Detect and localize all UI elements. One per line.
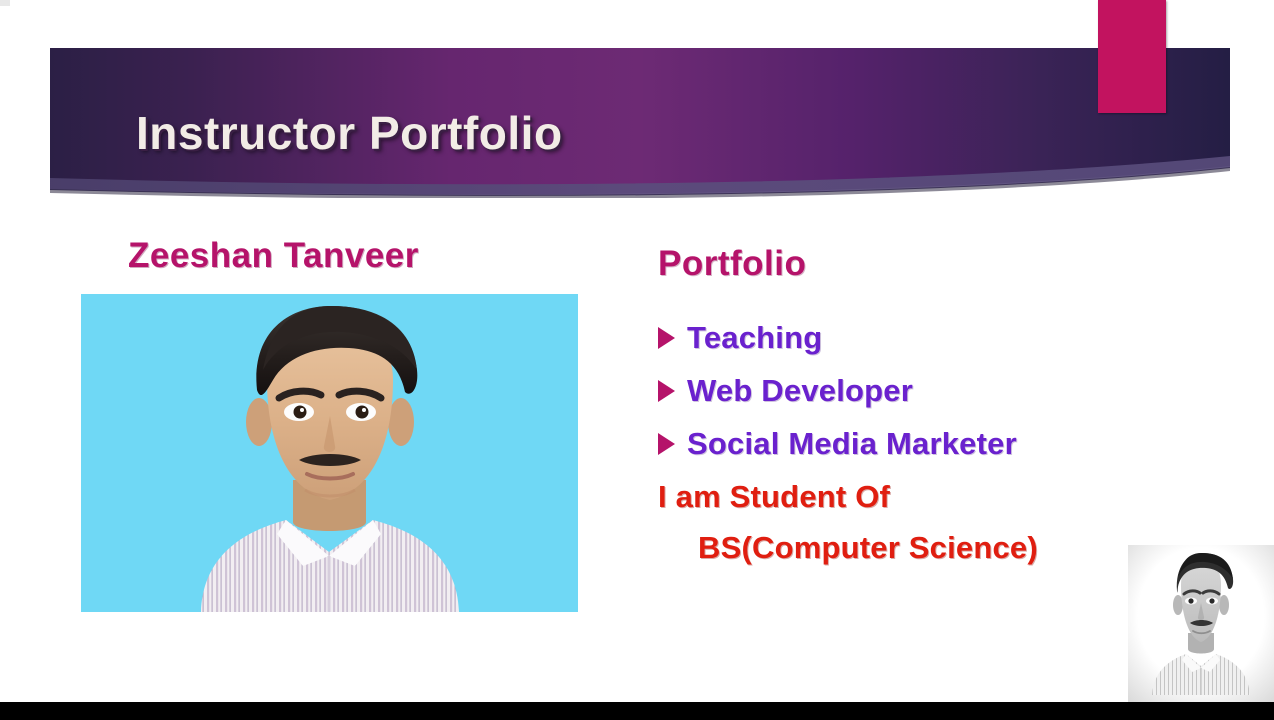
list-item-label: Teaching xyxy=(687,320,822,356)
instructor-block: Zeeshan Tanveer xyxy=(81,236,581,286)
webcam-portrait-illustration xyxy=(1128,545,1274,702)
header-banner: Instructor Portfolio xyxy=(50,48,1230,198)
list-item: Web Developer xyxy=(658,373,1218,409)
instructor-portrait-photo xyxy=(81,294,578,612)
portfolio-heading: Portfolio xyxy=(658,244,1218,284)
bottom-letterbox-bar xyxy=(0,702,1274,720)
portfolio-block: Portfolio Teaching Web Developer Social … xyxy=(658,244,1218,566)
list-item: Teaching xyxy=(658,320,1218,356)
student-statement-line-1: I am Student Of xyxy=(658,479,1218,515)
portfolio-skill-list: Teaching Web Developer Social Media Mark… xyxy=(658,320,1218,462)
slide-canvas: Instructor Portfolio Zeeshan Tanveer xyxy=(0,0,1274,720)
accent-bar xyxy=(1098,0,1166,113)
list-item-label: Social Media Marketer xyxy=(687,426,1017,462)
instructor-name: Zeeshan Tanveer xyxy=(128,236,581,276)
triangle-bullet-icon xyxy=(658,380,675,402)
top-left-nub xyxy=(0,0,10,6)
list-item-label: Web Developer xyxy=(687,373,913,409)
presenter-webcam-thumbnail[interactable] xyxy=(1128,545,1274,702)
list-item: Social Media Marketer xyxy=(658,426,1218,462)
portrait-illustration xyxy=(81,294,578,612)
triangle-bullet-icon xyxy=(658,327,675,349)
page-title: Instructor Portfolio xyxy=(136,106,563,160)
triangle-bullet-icon xyxy=(658,433,675,455)
